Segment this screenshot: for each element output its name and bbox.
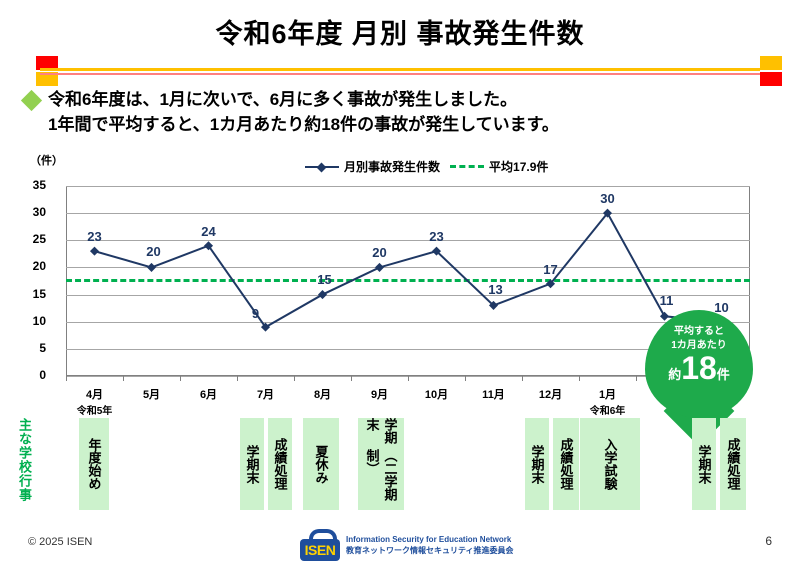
decor-square-right-top [760,56,782,70]
slide: 令和6年度 月別 事故発生件数 令和6年度は、1月に次いで、6月に多く事故が発生… [0,0,800,566]
x-axis-label: 4月 [86,386,103,402]
page-number: 6 [765,534,772,548]
y-axis-tick-label: 0 [16,368,46,382]
decor-line-red [40,73,760,75]
y-axis-tick-label: 5 [16,341,46,355]
data-point-marker [318,290,327,299]
y-axis-tick-label: 35 [16,178,46,192]
footer-divider [0,522,800,523]
y-axis-tick-label: 30 [16,205,46,219]
event-label: 学期末 [695,445,713,484]
event-label: 入学試験 [601,438,619,490]
legend-line-navy-icon [305,166,339,168]
logo-japanese-tagline: 教育ネットワーク情報セキュリティ推進委員会 [346,545,514,556]
event-box: 入学試験 [580,418,640,510]
data-point-label: 24 [201,224,215,239]
legend-item-average: 平均17.9件 [450,158,548,175]
chart-legend: 月別事故発生件数 平均17.9件 [305,158,548,175]
diamond-bullet-icon [21,90,42,111]
x-axis-label: 11月 [482,386,505,402]
callout-line-1: 平均すると [645,322,753,337]
lead-paragraph: 令和6年度は、1月に次いで、6月に多く事故が発生しました。 1年間で平均すると、… [24,88,784,137]
data-point-label: 9 [252,306,259,321]
event-label: 学期末 [528,445,546,484]
data-point-marker [90,247,99,256]
footer: © 2025 ISEN ISEN Information Security fo… [0,522,800,566]
y-axis-tick-label: 20 [16,259,46,273]
callout-suffix: 件 [717,364,730,383]
padlock-body-icon: ISEN [300,539,340,561]
y-axis-tick-label: 25 [16,232,46,246]
data-point-label: 13 [488,282,502,297]
event-label: 成績処理 [557,438,575,490]
event-box: 年度始め [79,418,109,510]
event-box: 成績処理 [553,418,579,510]
callout-line-2: 1カ月あたり [645,336,753,351]
data-point-marker [147,263,156,272]
data-point-label: 20 [146,244,160,259]
x-axis-label: 8月 [314,386,331,402]
event-label: 成績処理 [271,438,289,490]
events-heading: 主な学校行事 [14,418,34,510]
decor-square-right-bottom [760,72,782,86]
lead-line-1: 令和6年度は、1月に次いで、6月に多く事故が発生しました。 [48,88,559,113]
event-box: 夏休み [303,418,339,510]
isen-logo: ISEN Information Security for Education … [300,528,540,562]
header-divider [18,56,782,86]
x-axis-label: 10月 [425,386,448,402]
x-axis-label: 12月 [539,386,562,402]
average-callout-pin: 平均すると 1カ月あたり 約 18 件 [645,310,753,425]
data-point-label: 11 [660,293,674,308]
x-axis-label: 9月 [371,386,388,402]
legend-label-average: 平均17.9件 [489,158,548,175]
event-label: 学期末 [243,445,261,484]
event-box: 学期末（二学期制） [358,418,404,510]
data-point-label: 23 [429,229,443,244]
callout-prefix: 約 [668,364,681,383]
data-point-label: 17 [543,262,557,277]
data-point-label: 30 [600,191,614,206]
legend-label-series: 月別事故発生件数 [344,158,440,175]
event-label: 夏休み [312,445,330,484]
page-title: 令和6年度 月別 事故発生件数 [0,12,800,51]
callout-number: 18 [681,352,717,384]
x-axis-label: 5月 [143,386,160,402]
decor-line-yellow [40,68,760,71]
event-box: 学期末 [240,418,264,510]
event-box: 学期末 [692,418,716,510]
legend-line-green-dashed-icon [450,165,484,168]
lead-line-2: 1年間で平均すると、1カ月あたり約18件の事故が発生しています。 [48,113,559,138]
event-label: 学期末 [363,418,399,449]
data-point-label: 23 [87,229,101,244]
event-box: 成績処理 [720,418,746,510]
data-point-label: 20 [372,245,386,260]
copyright-text: © 2025 ISEN [28,536,92,548]
y-axis-unit-label: （件） [30,152,63,168]
event-label: 年度始め [85,438,103,490]
y-axis-tick-label: 15 [16,287,46,301]
event-label: （二学期制） [363,449,399,510]
x-axis-label: 6月 [200,386,217,402]
y-axis-tick-label: 10 [16,314,46,328]
logo-english-tagline: Information Security for Education Netwo… [346,534,514,545]
event-label: 成績処理 [724,438,742,490]
logo-mark-text: ISEN [305,542,336,558]
legend-item-series: 月別事故発生件数 [305,158,440,175]
event-box: 成績処理 [268,418,292,510]
x-axis-label: 1月 [599,386,616,402]
padlock-icon: ISEN [300,529,340,561]
data-point-label: 15 [317,272,331,287]
line-chart: （件） 月別事故発生件数 平均17.9件 0510152025303523202… [0,150,800,400]
x-axis-label: 7月 [257,386,274,402]
data-point-marker [375,263,384,272]
event-box: 学期末 [525,418,549,510]
school-events-row: 主な学校行事 年度始め学期末成績処理夏休み学期末（二学期制）学期末成績処理入学試… [0,415,800,515]
